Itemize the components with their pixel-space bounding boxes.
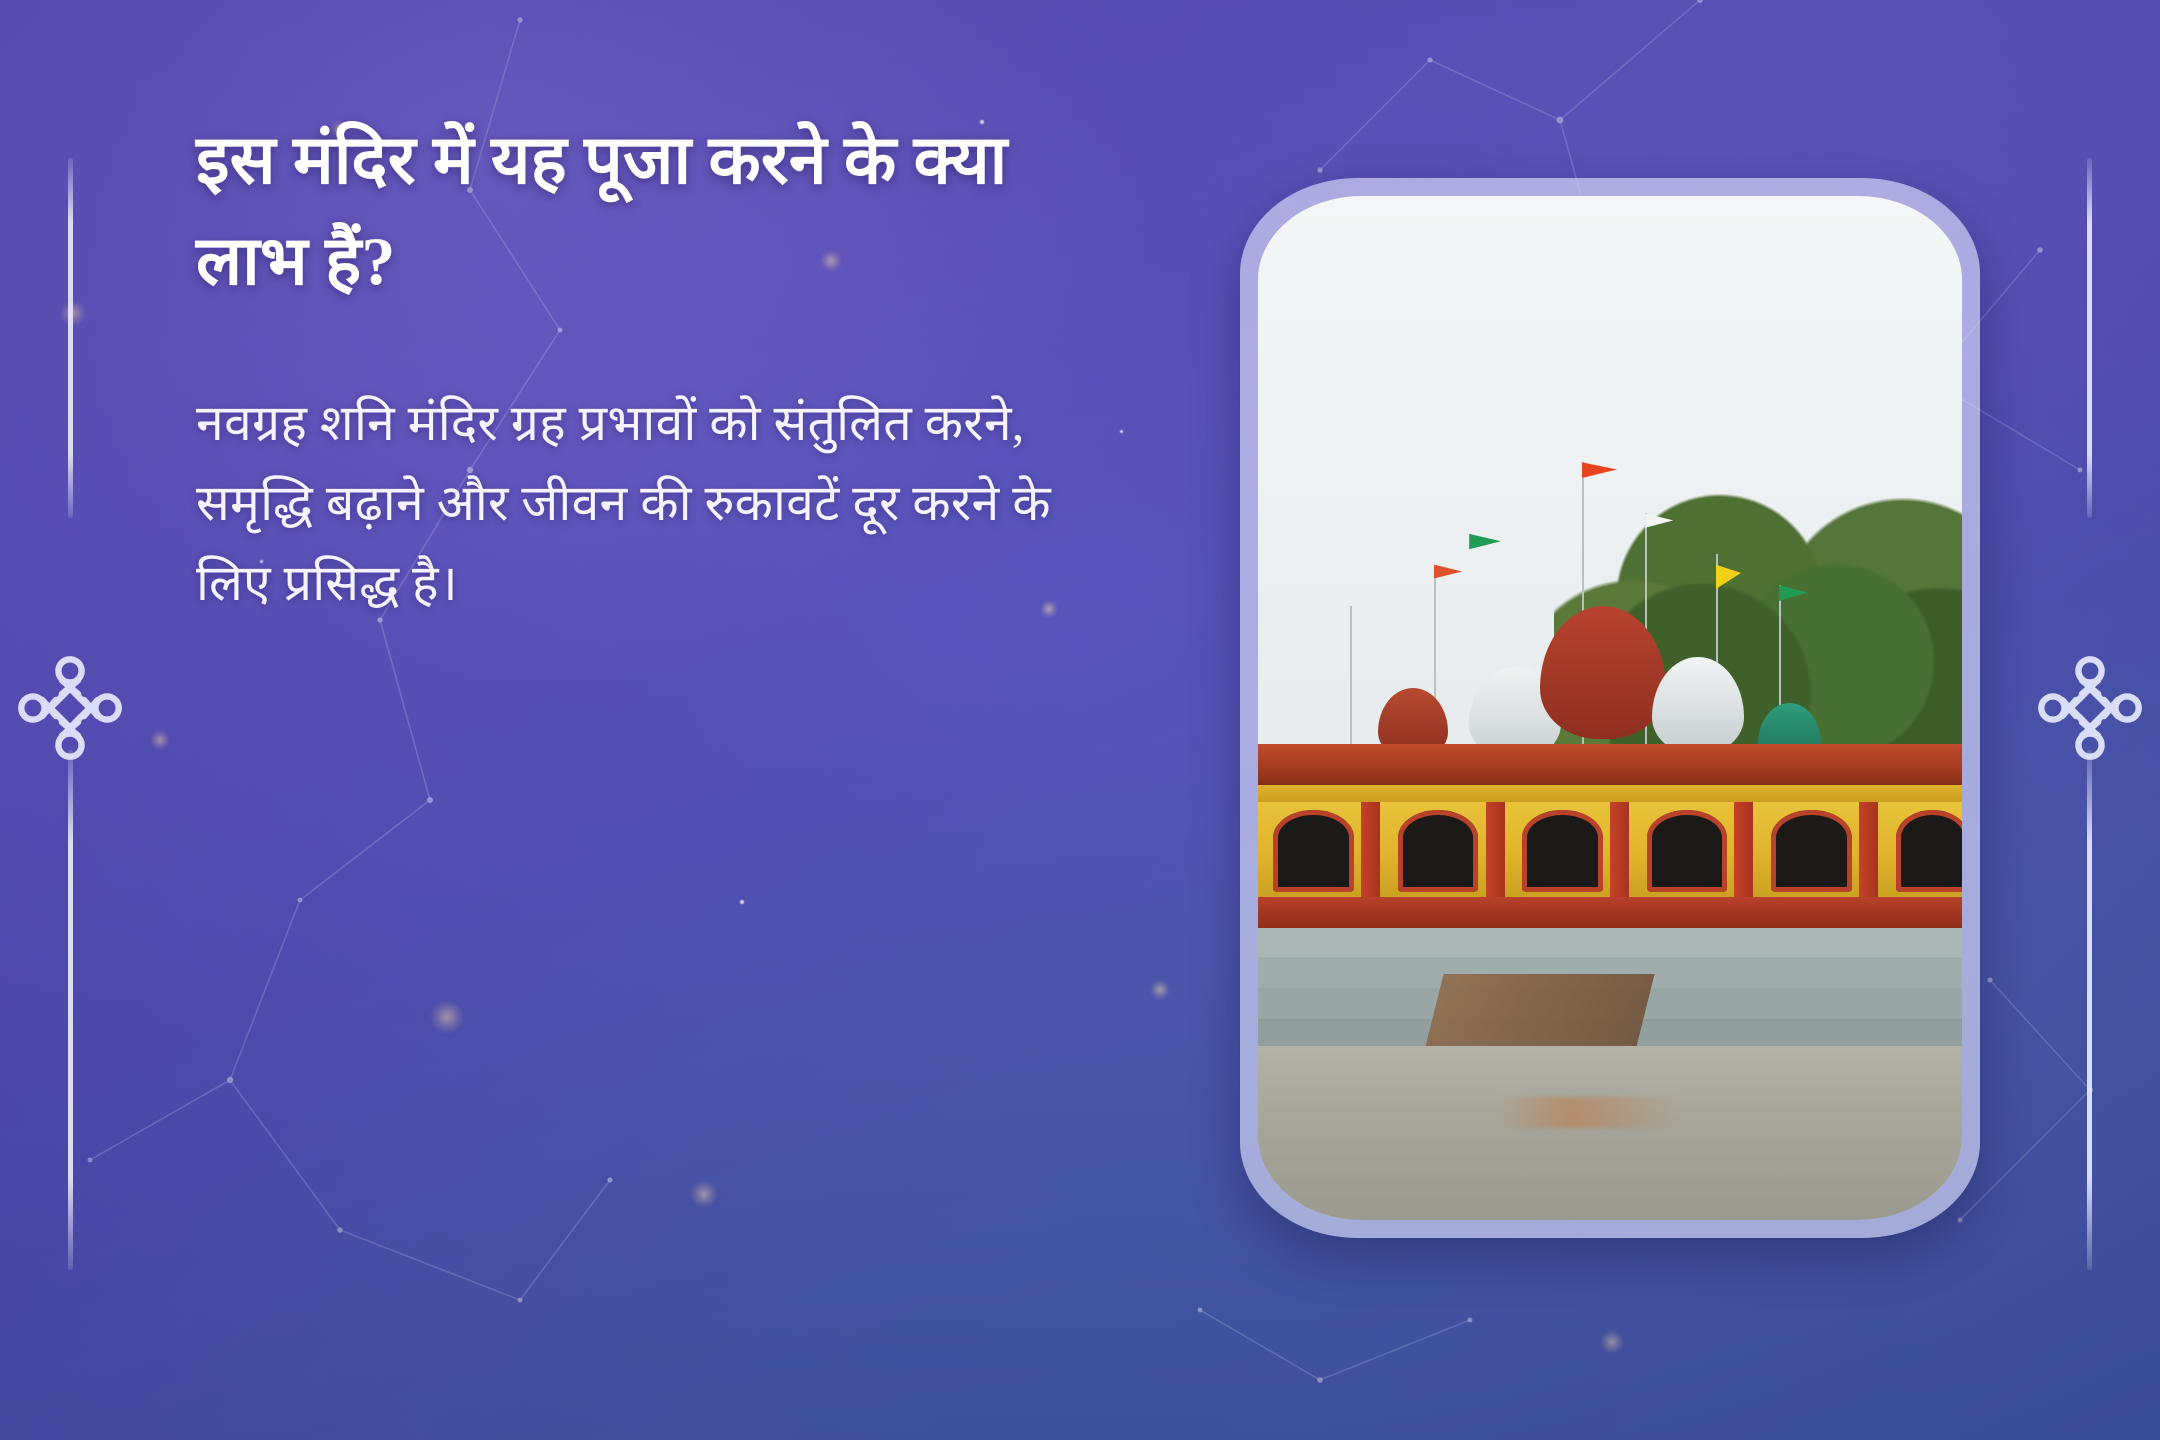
text-column: इस मंदिर में यह पूजा करने के क्या लाभ है… [196, 110, 1156, 623]
temple-arch [1273, 810, 1354, 892]
temple-arch [1522, 810, 1603, 892]
temple-arch [1647, 810, 1728, 892]
temple-arch [1896, 810, 1962, 892]
temple-roof [1258, 744, 1962, 790]
temple-pillar [1859, 802, 1878, 899]
temple-photo [1258, 196, 1962, 1220]
temple-pillar [1361, 802, 1380, 899]
knot-ornament-icon [2032, 650, 2148, 766]
temple-pillar [1610, 802, 1629, 899]
temple-pillar [1734, 802, 1753, 899]
right-rail-top [2087, 158, 2092, 518]
right-rail-bottom [2087, 750, 2092, 1270]
courtyard-marking [1497, 1097, 1680, 1128]
temple-arch [1398, 810, 1479, 892]
temple-courtyard [1258, 1046, 1962, 1220]
temple-plinth [1258, 897, 1962, 930]
temple-photo-card [1240, 178, 1980, 1238]
temple-arch [1771, 810, 1852, 892]
knot-ornament-icon [12, 650, 128, 766]
temple-facade [1258, 802, 1962, 899]
page-title: इस मंदिर में यह पूजा करने के क्या लाभ है… [196, 110, 1066, 311]
left-rail-bottom [68, 750, 73, 1270]
body-paragraph: नवग्रह शनि मंदिर ग्रह प्रभावों को संतुलि… [196, 383, 1096, 623]
left-rail-top [68, 158, 73, 518]
temple-pillar [1486, 802, 1505, 899]
